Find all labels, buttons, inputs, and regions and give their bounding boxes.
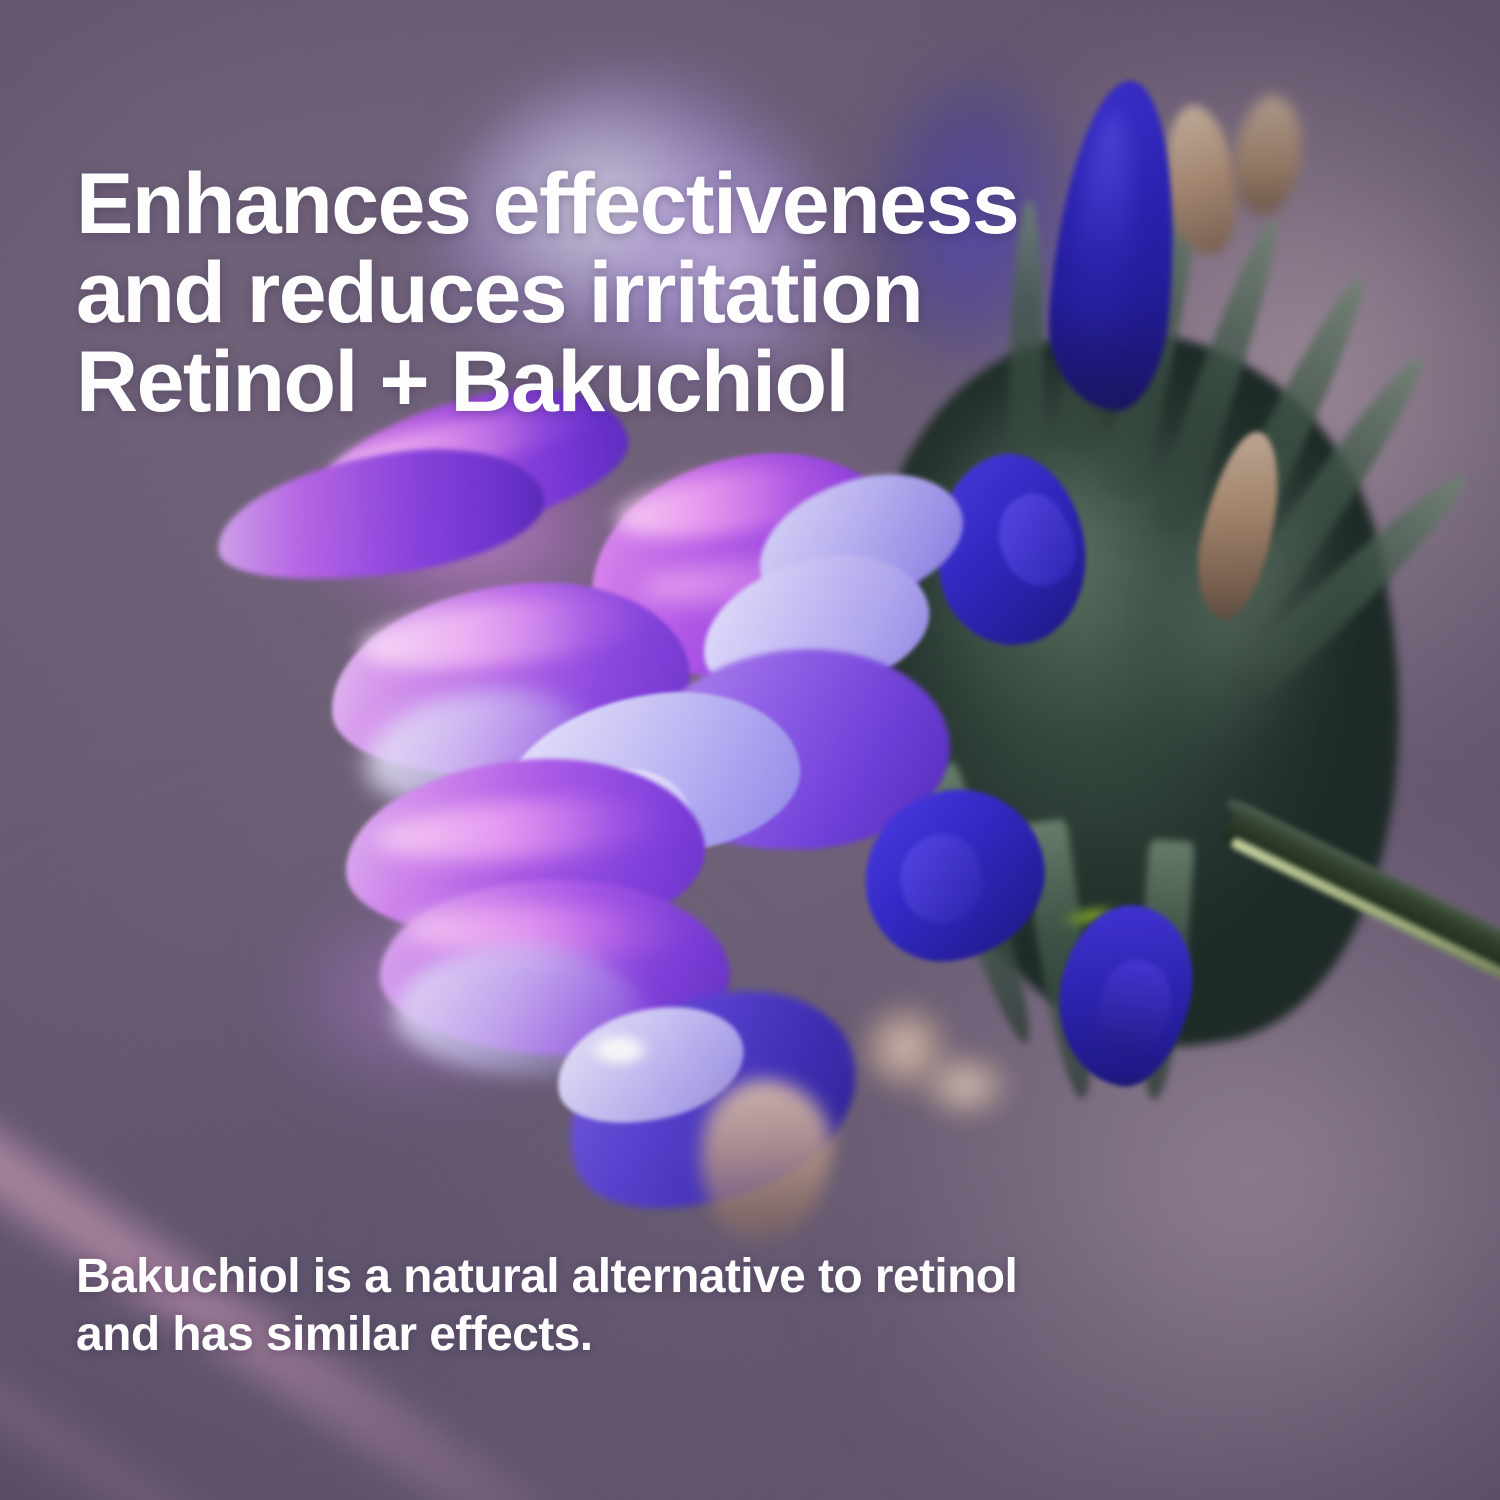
dried-sepal	[1226, 91, 1310, 220]
headline-text: Enhances effectiveness and reduces irrit…	[76, 160, 1236, 427]
lower-petal-highlight	[580, 1030, 658, 1074]
caption-text: Bakuchiol is a natural alternative to re…	[76, 1248, 1226, 1363]
product-benefit-image: Enhances effectiveness and reduces irrit…	[0, 0, 1500, 1500]
dried-floret	[905, 1045, 1025, 1135]
